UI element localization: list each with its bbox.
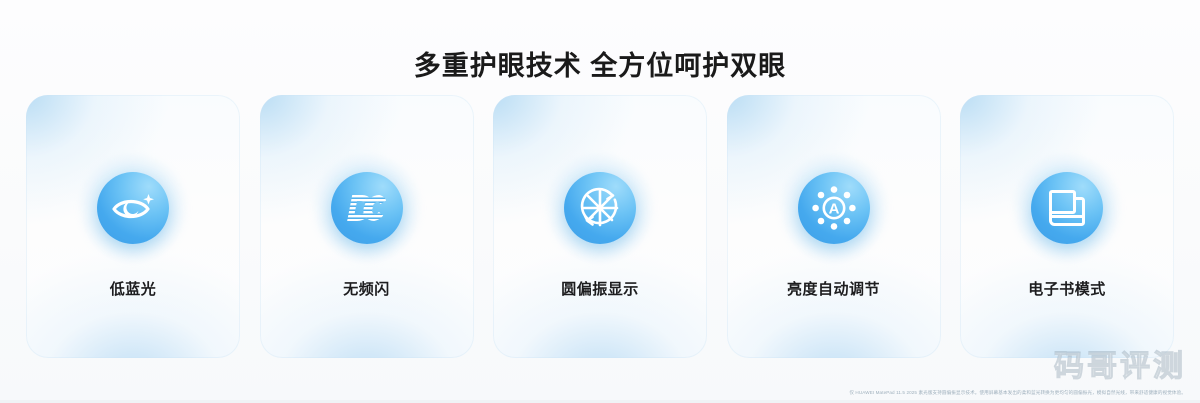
dc-dimming-icon: [342, 191, 392, 225]
icon-orb: [1031, 172, 1103, 244]
feature-card-row: 低蓝光: [26, 95, 1174, 358]
icon-orb-wrapper: [546, 154, 654, 262]
book-icon: [1046, 187, 1088, 229]
icon-orb-wrapper: [1013, 154, 1121, 262]
icon-orb: [97, 172, 169, 244]
footnote-disclaimer: 仅 HUAWEI MatePad 11.5 2025 素光版支持圆偏振显示技术。…: [0, 390, 1200, 397]
feature-card-no-flicker[interactable]: 无频闪: [260, 95, 474, 358]
feature-label: 无频闪: [260, 278, 474, 299]
feature-card-low-blue-light[interactable]: 低蓝光: [26, 95, 240, 358]
eye-care-feature-panel: 多重护眼技术 全方位呵护双眼 低蓝光: [0, 0, 1200, 403]
polarization-wheel-icon: [577, 185, 623, 231]
feature-label: 低蓝光: [26, 278, 240, 299]
feature-card-auto-brightness[interactable]: A: [727, 95, 941, 358]
icon-orb-wrapper: [313, 154, 421, 262]
eye-sparkle-icon: [111, 191, 155, 225]
icon-orb-wrapper: A: [780, 154, 888, 262]
feature-card-circular-polarization[interactable]: 圆偏振显示: [493, 95, 707, 358]
feature-label: 电子书模式: [960, 278, 1174, 299]
icon-orb-wrapper: [79, 154, 187, 262]
feature-label: 圆偏振显示: [493, 278, 707, 299]
icon-orb: [564, 172, 636, 244]
icon-orb: [331, 172, 403, 244]
svg-text:A: A: [828, 201, 839, 218]
feature-label: 亮度自动调节: [727, 278, 941, 299]
page-title: 多重护眼技术 全方位呵护双眼: [0, 44, 1200, 83]
feature-card-ebook-mode[interactable]: 电子书模式: [960, 95, 1174, 358]
icon-orb: A: [798, 172, 870, 244]
auto-brightness-icon: A: [810, 184, 858, 232]
